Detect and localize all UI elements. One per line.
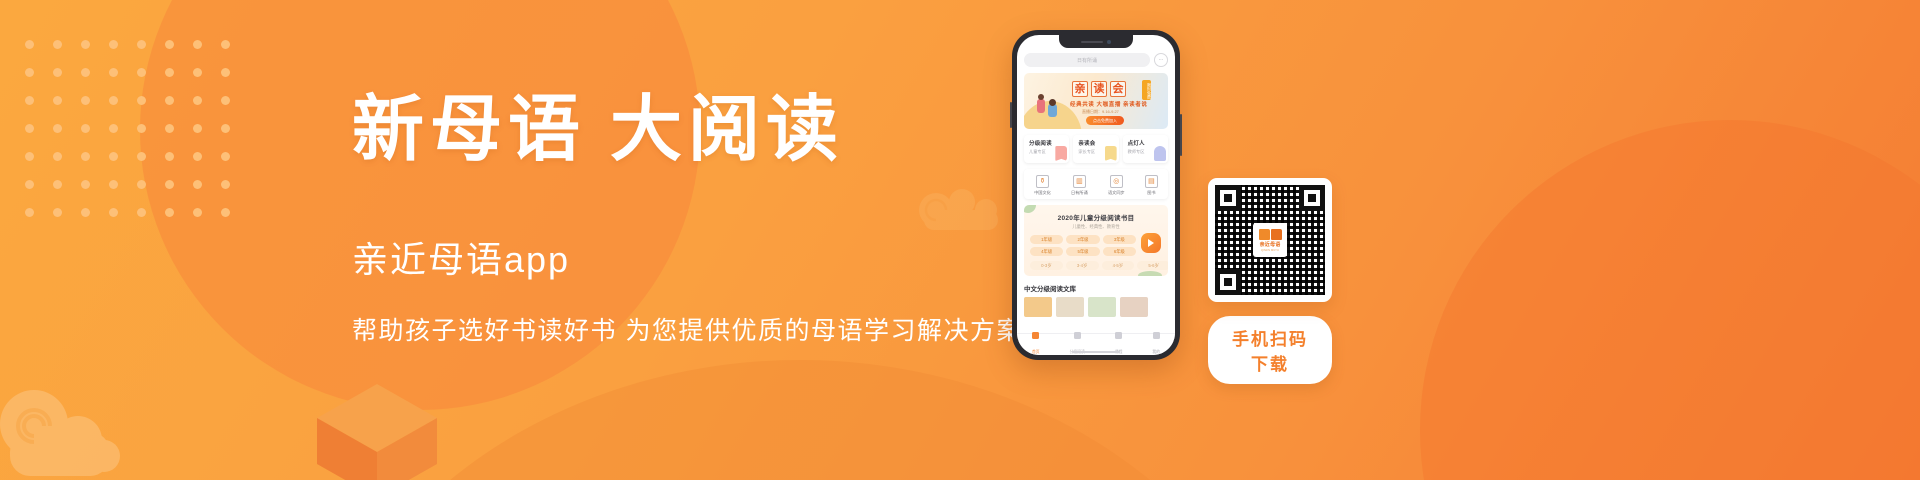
quick-link-label: 语文同步 (1108, 190, 1125, 196)
user-icon (1153, 332, 1160, 339)
card-title: 亲读会 (1078, 139, 1114, 147)
tab-label: 首页 (1032, 350, 1040, 354)
app-promo-banner[interactable]: 亲 读 会 限时免费 经典共读 大咖直播 亲读者说 直播日期：9.16-9.27… (1024, 73, 1168, 129)
tab-profile[interactable]: 我的 (1152, 332, 1160, 356)
course-icon (1115, 332, 1122, 339)
banner-text-block: 新母语 大阅读 亲近母语app 帮助孩子选好书读好书 为您提供优质的母语学习解决… (352, 88, 1052, 347)
quick-link-daily-recitation[interactable]: ▥ 日有所诵 (1071, 175, 1088, 196)
quick-link-books[interactable]: ▤ 图书 (1145, 175, 1158, 196)
book-logo-icon (1259, 229, 1282, 240)
leaf-decor-right (1138, 271, 1162, 276)
decor-circle-bottom-right (1420, 120, 1920, 480)
qr-finder-bottom-left (1215, 269, 1241, 295)
qr-finder-top-right (1299, 185, 1325, 211)
decor-cloud-bottom-left (0, 370, 190, 480)
phone-screen: 日有所诵 ··· 亲 读 会 限时免费 经典共读 大咖直播 亲读者说 (1017, 35, 1175, 355)
booklist-grade-tags: 1年级 2年级 3年级 4年级 5年级 6年级 (1030, 235, 1136, 256)
download-button[interactable]: 手机扫码下载 (1208, 316, 1332, 384)
person-icon (1154, 146, 1166, 161)
phone-mockup: 日有所诵 ··· 亲 读 会 限时免费 经典共读 大咖直播 亲读者说 (1012, 30, 1180, 360)
brand-logo: 亲近母语 QINJIN MUYU (1253, 223, 1287, 257)
category-card-parent-club[interactable]: 亲读会 家长专区 (1073, 135, 1118, 163)
app-category-cards: 分级阅读 儿童专区 亲读会 家长专区 点灯人 教师专区 (1024, 135, 1168, 163)
quick-link-chinese-culture[interactable]: ⚱ 中国文化 (1034, 175, 1051, 196)
promo-title: 亲 读 会 (1072, 81, 1126, 97)
document-icon: ▤ (1145, 175, 1158, 188)
book-cover[interactable] (1120, 297, 1148, 317)
message-icon[interactable]: ··· (1154, 53, 1168, 67)
app-search-row: 日有所诵 ··· (1024, 53, 1168, 67)
speaker-grill (1081, 41, 1103, 43)
home-indicator (1072, 351, 1120, 353)
qr-card: 亲近母语 QINJIN MUYU (1208, 178, 1332, 302)
age-tag[interactable]: 4-5岁 (1102, 261, 1135, 270)
category-card-teacher[interactable]: 点灯人 教师专区 (1123, 135, 1168, 163)
promo-flag: 限时免费 (1142, 80, 1151, 100)
promo-child-1 (1037, 99, 1045, 113)
book-icon (1074, 332, 1081, 339)
message-icon-glyph: ··· (1159, 58, 1164, 63)
promo-date: 直播日期：9.16-9.27 (1082, 109, 1119, 115)
front-camera (1107, 40, 1111, 44)
book-icon (1055, 146, 1067, 161)
booklist-title: 2020年儿童分级阅读书目 (1030, 212, 1162, 222)
grade-tag[interactable]: 1年级 (1030, 235, 1063, 244)
age-tag[interactable]: 5-6岁 (1137, 261, 1168, 270)
promo-subtitle: 经典共读 大咖直播 亲读者说 (1070, 100, 1147, 108)
decor-arc-bottom (300, 360, 1300, 480)
tab-label: 我的 (1152, 350, 1160, 354)
play-icon (1148, 239, 1154, 247)
promo-banner: 新母语 大阅读 亲近母语app 帮助孩子选好书读好书 为您提供优质的母语学习解决… (0, 0, 1920, 480)
quick-link-label: 日有所诵 (1071, 190, 1088, 196)
quick-link-label: 中国文化 (1034, 190, 1051, 196)
sync-icon: ◎ (1110, 175, 1123, 188)
grade-tag[interactable]: 5年级 (1066, 247, 1099, 256)
home-icon (1032, 332, 1039, 339)
qr-finder-top-left (1215, 185, 1241, 211)
logo-subtitle: QINJIN MUYU (1261, 249, 1279, 252)
video-play-button[interactable] (1141, 233, 1161, 253)
decor-cube (312, 378, 442, 480)
app-booklist-section: 2020年儿童分级阅读书目 儿童性、经典性、教育性 1年级 2年级 3年级 4年… (1024, 205, 1168, 276)
promo-title-char-1: 亲 (1072, 81, 1088, 97)
quick-link-textbook-sync[interactable]: ◎ 语文同步 (1108, 175, 1125, 196)
promo-child-2 (1048, 104, 1057, 117)
promo-title-char-3: 会 (1110, 81, 1126, 97)
grade-tag[interactable]: 6年级 (1103, 247, 1136, 256)
booklist-age-tags: 0-3岁 3-4岁 4-5岁 5-6岁 (1030, 261, 1168, 270)
promo-join-button[interactable]: 点击免费加入 (1086, 116, 1124, 125)
book-icon (1105, 146, 1117, 161)
app-home: 日有所诵 ··· 亲 读 会 限时免费 经典共读 大咖直播 亲读者说 (1017, 35, 1175, 317)
age-tag[interactable]: 0-3岁 (1030, 261, 1063, 270)
open-book-icon: ▥ (1073, 175, 1086, 188)
banner-subtitle: 亲近母语app (352, 231, 1052, 283)
promo-title-char-2: 读 (1091, 81, 1107, 97)
library-section-title: 中文分级阅读文库 (1024, 283, 1168, 293)
quick-link-label: 图书 (1145, 190, 1158, 196)
book-cover[interactable] (1088, 297, 1116, 317)
card-title: 分级阅读 (1029, 139, 1065, 147)
banner-headline: 新母语 大阅读 (352, 88, 1052, 173)
age-tag[interactable]: 3-4岁 (1066, 261, 1099, 270)
app-quick-links: ⚱ 中国文化 ▥ 日有所诵 ◎ 语文同步 ▤ 图书 (1024, 169, 1168, 199)
search-input[interactable]: 日有所诵 (1024, 53, 1150, 67)
grade-tag[interactable]: 3年级 (1103, 235, 1136, 244)
qr-code[interactable]: 亲近母语 QINJIN MUYU (1215, 185, 1325, 295)
tab-home[interactable]: 首页 (1032, 332, 1040, 356)
decor-dot-grid (25, 40, 249, 236)
category-card-graded-reading[interactable]: 分级阅读 儿童专区 (1024, 135, 1069, 163)
book-cover[interactable] (1024, 297, 1052, 317)
grade-tag[interactable]: 4年级 (1030, 247, 1063, 256)
grade-tag[interactable]: 2年级 (1066, 235, 1099, 244)
logo-title: 亲近母语 (1260, 241, 1281, 248)
phone-notch (1059, 35, 1133, 48)
banner-tagline: 帮助孩子选好书读好书 为您提供优质的母语学习解决方案 (352, 311, 1052, 347)
booklist-subtitle: 儿童性、经典性、教育性 (1030, 224, 1162, 230)
vase-icon: ⚱ (1036, 175, 1049, 188)
book-cover[interactable] (1056, 297, 1084, 317)
qr-download-block: 亲近母语 QINJIN MUYU 手机扫码下载 (1208, 178, 1332, 384)
library-book-covers (1024, 297, 1168, 317)
app-tab-bar: 首页 分级阅读 课程 我的 (1017, 333, 1175, 355)
